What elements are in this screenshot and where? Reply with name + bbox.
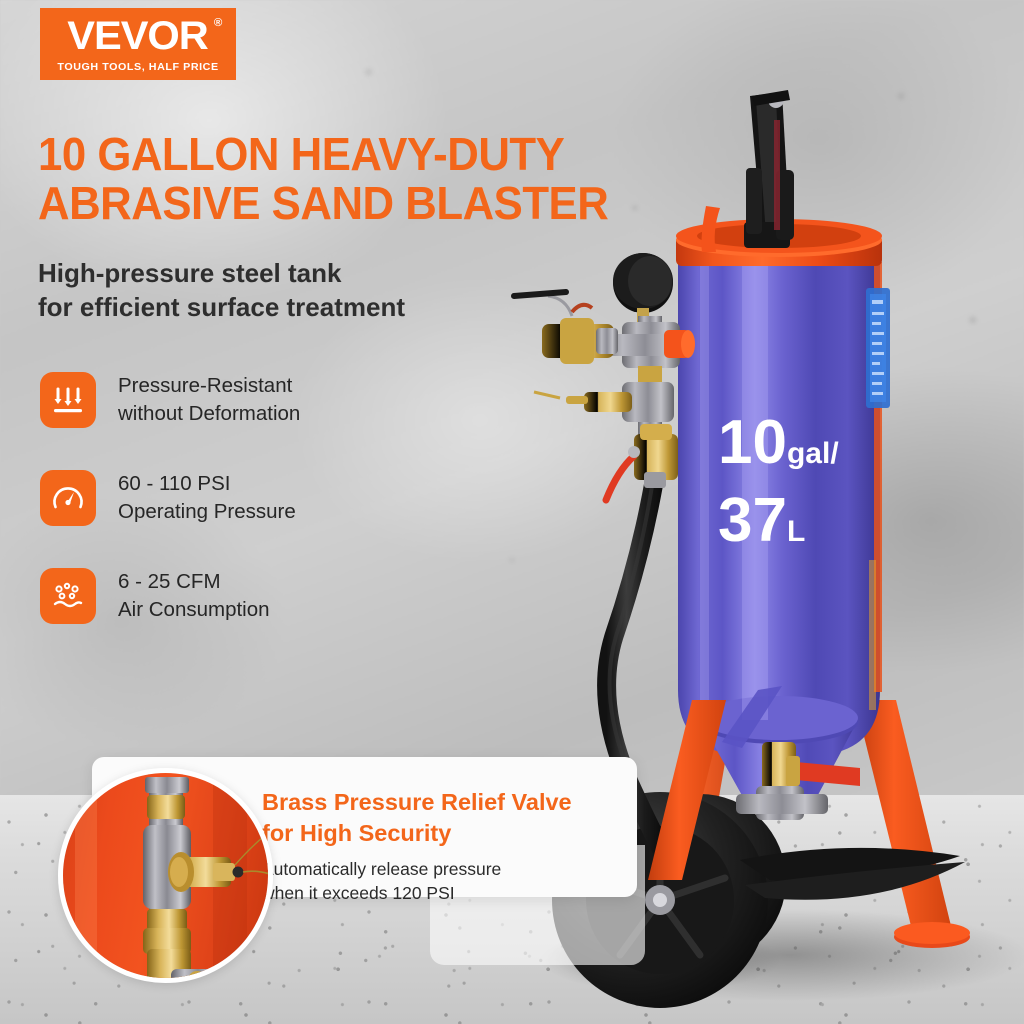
tank-capacity-gallons: 10gal/ (718, 412, 839, 474)
feature-item-operating-pressure: 60 - 110 PSI Operating Pressure (40, 470, 300, 526)
registered-mark: ® (214, 18, 221, 29)
relief-valve-closeup-inset (58, 768, 273, 983)
feature-item-air-consumption: 6 - 25 CFM Air Consumption (40, 568, 300, 624)
gauge-icon (40, 470, 96, 526)
inset-valve-illustration (63, 773, 273, 983)
subtitle-line-1: High-pressure steel tank (38, 256, 405, 290)
page-title: 10 GALLON HEAVY-DUTY ABRASIVE SAND BLAST… (38, 130, 608, 228)
headline-line-2: ABRASIVE SAND BLASTER (38, 179, 608, 228)
air-particles-icon (40, 568, 96, 624)
feature-item-pressure-resistant: Pressure-Resistant without Deformation (40, 372, 300, 428)
subtitle: High-pressure steel tank for efficient s… (38, 256, 405, 325)
callout-body-line-2: when it exceeds 120 PSI (262, 882, 572, 905)
callout-body-line-1: Automatically release pressure (262, 858, 572, 881)
callout-title: Brass Pressure Relief Valve for High Sec… (262, 787, 572, 848)
feature-list: Pressure-Resistant without Deformation 6… (40, 372, 300, 666)
pressure-arrows-icon (40, 372, 96, 428)
feature-line-1: Pressure-Resistant (118, 372, 300, 400)
feature-line-2: Air Consumption (118, 596, 270, 624)
feature-line-1: 6 - 25 CFM (118, 568, 270, 596)
logo-tagline: TOUGH TOOLS, HALF PRICE (57, 61, 218, 73)
feature-text-pressure-resistant: Pressure-Resistant without Deformation (118, 372, 300, 428)
vevor-logo: VEVOR® TOUGH TOOLS, HALF PRICE (40, 8, 236, 80)
feature-line-2: Operating Pressure (118, 498, 296, 526)
poster-stage: 10gal/ 37L VEVOR® TOUGH TOOLS, HALF PRIC… (0, 0, 1024, 1024)
feature-line-2: without Deformation (118, 400, 300, 428)
feature-text-air-consumption: 6 - 25 CFM Air Consumption (118, 568, 270, 624)
logo-wordmark: VEVOR® (68, 16, 208, 56)
feature-text-operating-pressure: 60 - 110 PSI Operating Pressure (118, 470, 296, 526)
tank-capacity-liters: 37L (718, 490, 805, 552)
callout-body: Automatically release pressure when it e… (262, 858, 572, 905)
callout-title-line-1: Brass Pressure Relief Valve (262, 787, 572, 818)
callout-title-line-2: for High Security (262, 818, 572, 849)
feature-line-1: 60 - 110 PSI (118, 470, 296, 498)
callout-text-block: Brass Pressure Relief Valve for High Sec… (262, 787, 572, 905)
headline-line-1: 10 GALLON HEAVY-DUTY (38, 130, 608, 179)
subtitle-line-2: for efficient surface treatment (38, 290, 405, 324)
